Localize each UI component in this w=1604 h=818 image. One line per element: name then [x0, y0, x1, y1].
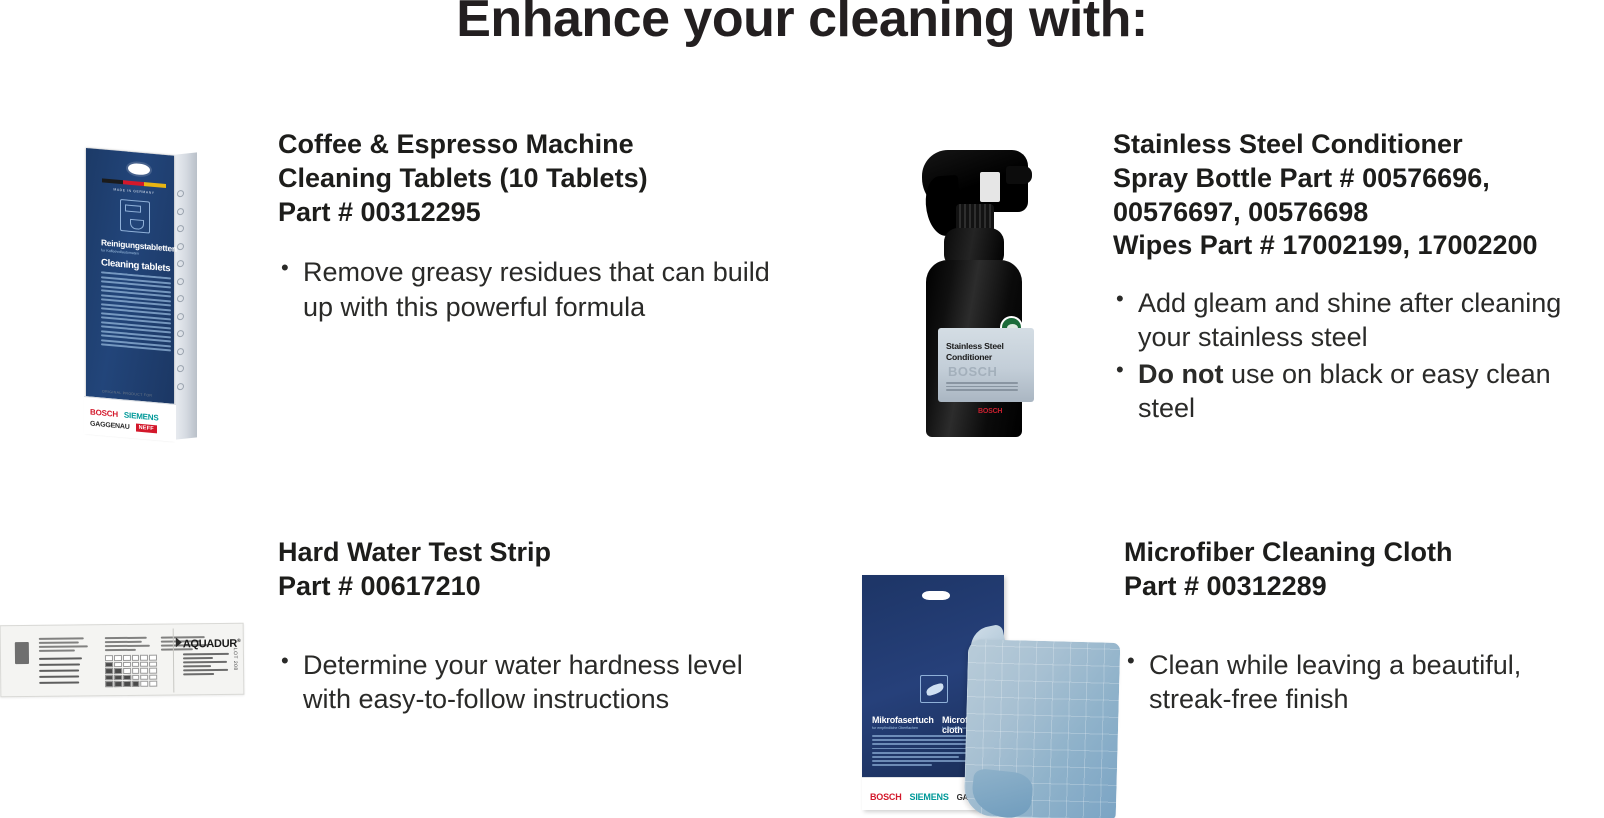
product-heading: Coffee & Espresso Machine Cleaning Table…: [278, 128, 798, 229]
product-bullet-list: Determine your water hardness level with…: [278, 648, 748, 717]
siemens-logo: SIEMENS: [910, 792, 949, 802]
product-coffee-espresso-cleaning-tablets: Coffee & Espresso Machine Cleaning Table…: [278, 128, 798, 326]
bosch-logo: BOSCH: [870, 792, 902, 802]
product-heading: Microfiber Cleaning Cloth Part # 0031228…: [1124, 536, 1594, 604]
instructions-column-en: [105, 637, 157, 653]
test-strip-reagent-pad: [15, 642, 29, 664]
list-item: Determine your water hardness level with…: [278, 648, 748, 717]
list-item-do-not: Do not use on black or easy clean steel: [1113, 357, 1604, 426]
product-bullet-list: Remove greasy residues that can build up…: [278, 255, 798, 324]
carton-side-dots: [176, 190, 185, 391]
stainless-steel-conditioner-spray-image: Stainless Steel Conditioner BOSCH BOSCH: [900, 142, 1050, 437]
lot-number-label: LOT 208: [232, 648, 238, 671]
instructions-column-de: [39, 637, 111, 654]
made-in-germany-label: MADE IN GERMANY: [102, 186, 166, 196]
page-title: Enhance your cleaning with:: [0, 0, 1604, 50]
test-strip-fine-print: [183, 653, 233, 678]
product-stainless-steel-conditioner: Stainless Steel Conditioner Spray Bottle…: [1113, 128, 1604, 427]
product-microfiber-cleaning-cloth: Microfiber Cleaning Cloth Part # 0031228…: [1124, 536, 1594, 718]
hardness-color-grid: [105, 655, 157, 688]
cloth-icon: [920, 675, 948, 703]
label-line-1: Stainless Steel: [946, 341, 1004, 351]
bosch-watermark-logo: BOSCH: [948, 364, 997, 379]
pack-subtitle-de: fur empfindliche Oberflachen: [872, 726, 918, 730]
microfiber-cleaning-cloth-image: Mikrofasertuch Microfiber cloth fur empf…: [838, 565, 1122, 818]
spray-bottle-label: Stainless Steel Conditioner BOSCH: [938, 328, 1034, 402]
list-item: Remove greasy residues that can build up…: [278, 255, 798, 324]
coffee-machine-icon: [120, 199, 150, 234]
label-line-2: Conditioner: [946, 352, 992, 362]
siemens-logo: SIEMENS: [124, 410, 159, 422]
spray-bottle-graphic: Stainless Steel Conditioner BOSCH BOSCH: [900, 142, 1050, 437]
product-bullet-list: Clean while leaving a beautiful, streak-…: [1124, 648, 1594, 717]
triangle-marker-icon: [176, 637, 182, 647]
hard-water-test-strip-image: AQUADUR® LOT 208: [0, 618, 246, 706]
product-bullet-list: Add gleam and shine after cleaning your …: [1113, 286, 1604, 425]
package-hang-hole: [922, 591, 950, 600]
spray-nozzle: [1006, 166, 1032, 184]
neff-logo: NEFF: [136, 424, 157, 434]
carton-brand-strip: BOSCH SIEMENS GAGGENAU NEFF: [84, 396, 176, 442]
test-strip-card: AQUADUR® LOT 208: [0, 623, 244, 698]
gaggenau-logo: GAGGENAU: [90, 420, 130, 430]
pack-title-de: Mikrofasertuch: [872, 715, 934, 725]
cleaning-tablets-box-image: MADE IN GERMANY Reinigungstabletten fur …: [74, 148, 206, 436]
bold-emphasis: Do not: [1138, 359, 1223, 389]
hardness-legend-rows: [39, 657, 101, 688]
product-hard-water-test-strip: Hard Water Test Strip Part # 00617210 De…: [278, 536, 748, 718]
product-heading: Stainless Steel Conditioner Spray Bottle…: [1113, 128, 1604, 263]
carton-side-panel: [172, 152, 197, 440]
carton-graphic: MADE IN GERMANY Reinigungstabletten fur …: [74, 148, 206, 436]
bosch-logo-bottom: BOSCH: [978, 408, 1002, 415]
test-strip-brand-panel: AQUADUR® LOT 208: [173, 628, 240, 693]
label-fine-print: [946, 382, 1018, 393]
product-heading: Hard Water Test Strip Part # 00617210: [278, 536, 748, 604]
promo-page: Enhance your cleaning with: MADE IN GERM…: [0, 0, 1604, 818]
aquadur-text: AQUADUR: [183, 638, 237, 651]
list-item: Clean while leaving a beautiful, streak-…: [1124, 648, 1594, 717]
carton-body-text-block: [101, 271, 171, 355]
list-item: Add gleam and shine after cleaning your …: [1113, 286, 1604, 355]
bosch-logo: BOSCH: [90, 408, 118, 419]
carton-hang-hole: [126, 160, 152, 177]
registered-mark: ®: [237, 638, 240, 644]
